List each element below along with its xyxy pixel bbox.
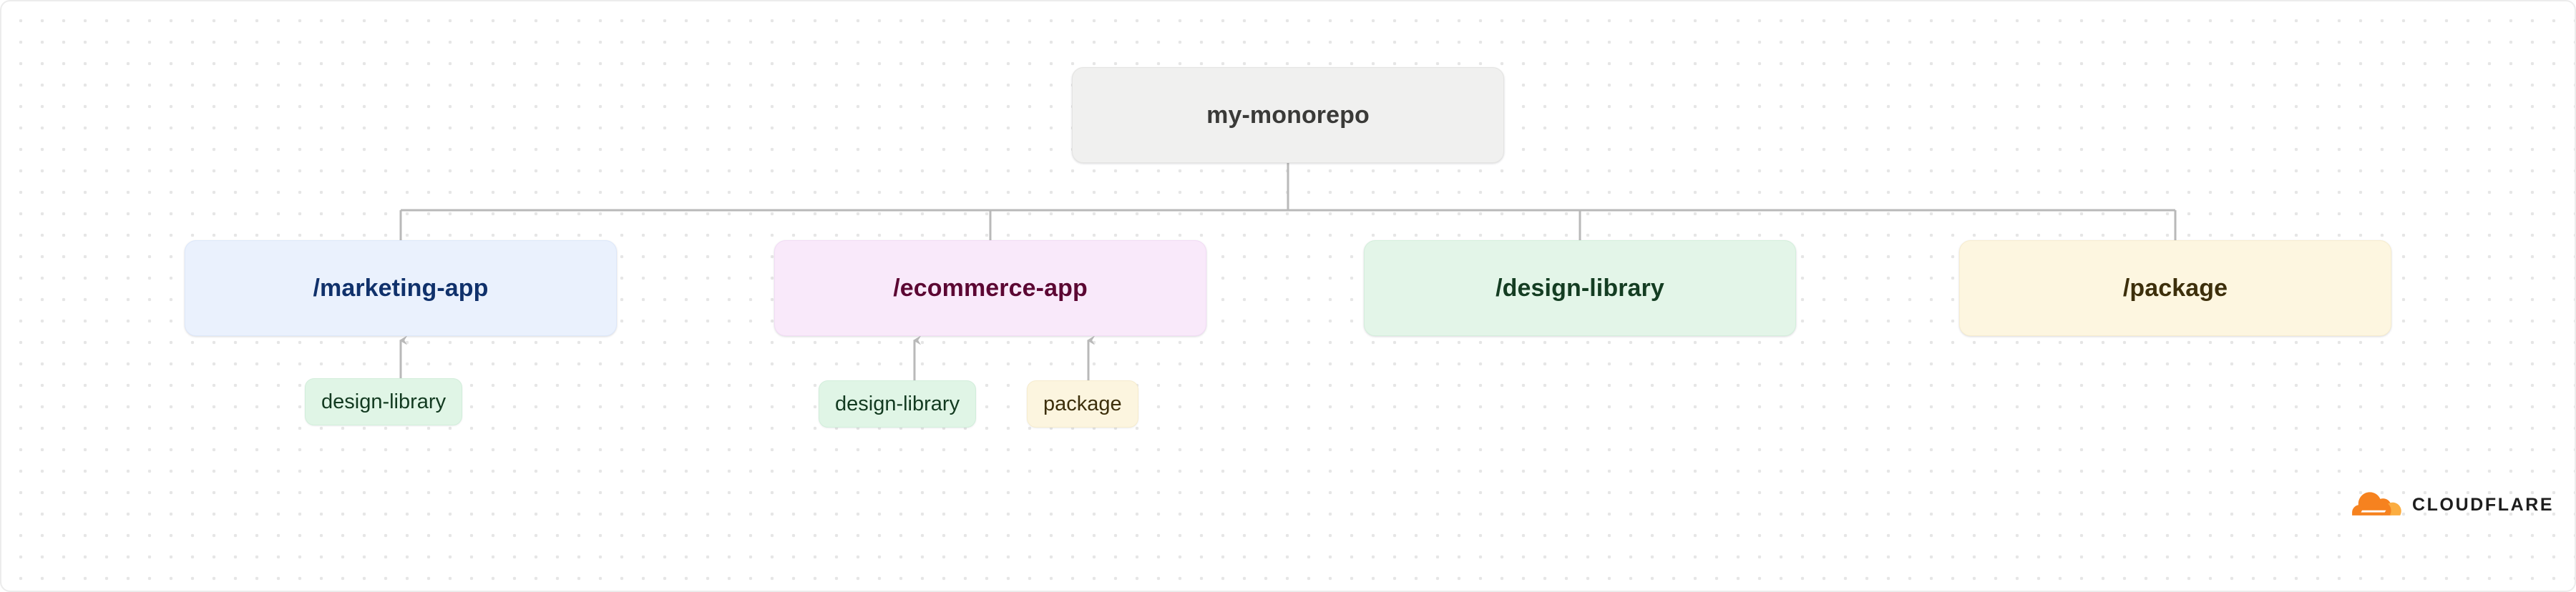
cloudflare-logo: CLOUDFLARE xyxy=(2351,490,2554,519)
node-label: /design-library xyxy=(1496,275,1664,302)
dependency-label: design-library xyxy=(321,390,446,414)
node-my-monorepo[interactable]: my-monorepo xyxy=(1072,67,1504,163)
dependency-pill-ecommerce-design-library[interactable]: design-library xyxy=(819,380,976,428)
cloudflare-wordmark: CLOUDFLARE xyxy=(2412,495,2554,515)
dependency-label: package xyxy=(1043,393,1122,416)
node-label: my-monorepo xyxy=(1206,102,1370,129)
node-marketing-app[interactable]: /marketing-app xyxy=(185,240,617,336)
dependency-pill-marketing-design-library[interactable]: design-library xyxy=(305,378,462,425)
diagram-canvas[interactable]: my-monorepo /marketing-app /ecommerce-ap… xyxy=(0,0,2576,592)
dependency-label: design-library xyxy=(835,393,960,416)
node-label: /marketing-app xyxy=(313,275,488,302)
cloudflare-cloud-icon xyxy=(2351,490,2402,519)
node-design-library[interactable]: /design-library xyxy=(1364,240,1796,336)
dependency-pill-ecommerce-package[interactable]: package xyxy=(1027,380,1138,428)
node-package[interactable]: /package xyxy=(1959,240,2391,336)
node-label: /ecommerce-app xyxy=(893,275,1088,302)
node-label: /package xyxy=(2123,275,2228,302)
node-ecommerce-app[interactable]: /ecommerce-app xyxy=(774,240,1206,336)
